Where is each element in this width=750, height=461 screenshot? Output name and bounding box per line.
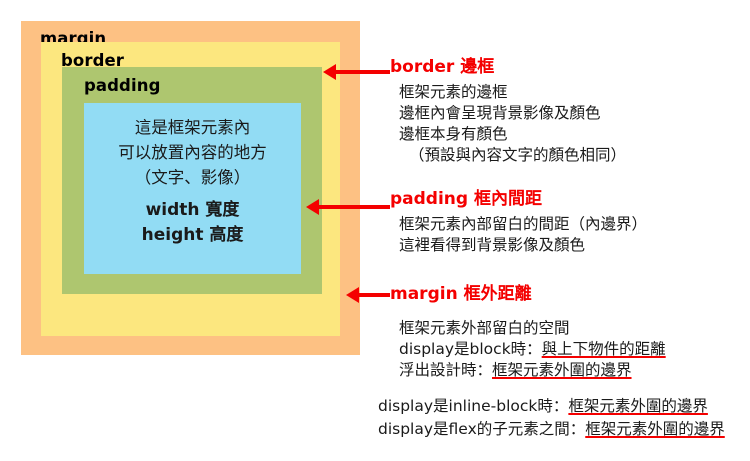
border-annotation-note: （預設與內容文字的顏色相同）	[390, 145, 750, 166]
margin-float-value: 框架元素外圍的邊界	[492, 361, 632, 379]
content-width-label: width 寬度	[146, 198, 240, 223]
content-height-label: height 高度	[142, 223, 244, 248]
margin-float-prefix: 浮出設計時：	[399, 361, 492, 379]
padding-annotation-heading: padding 框內間距	[390, 188, 750, 210]
border-annotation-line: 邊框本身有顏色	[390, 124, 750, 145]
margin-inline-block-value: 框架元素外圍的邊界	[568, 397, 708, 415]
box-model-diagram: margin border padding 這是框架元素內 可以放置內容的地方 …	[21, 21, 360, 355]
border-annotation-line: 框架元素的邊框	[390, 82, 750, 103]
padding-annotation-section: padding 框內間距 框架元素內部留白的間距（內邊界） 這裡看得到背景影像及…	[390, 188, 750, 256]
margin-callout-arrow-icon	[357, 293, 390, 297]
border-annotation-section: border 邊框 框架元素的邊框 邊框內會呈現背景影像及顏色 邊框本身有顏色 …	[390, 56, 750, 166]
margin-extra-annotations: display是inline-block時：框架元素外圍的邊界 display是…	[378, 395, 750, 441]
annotations-column: border 邊框 框架元素的邊框 邊框內會呈現背景影像及顏色 邊框本身有顏色 …	[390, 0, 750, 461]
content-text-line: （文字、影像）	[135, 165, 251, 190]
margin-annotation-display-block: display是block時：與上下物件的距離	[390, 339, 750, 360]
margin-box: margin border padding 這是框架元素內 可以放置內容的地方 …	[21, 21, 360, 355]
margin-annotation-line: 框架元素外部留白的空間	[390, 309, 750, 339]
margin-flex-child-value: 框架元素外圍的邊界	[585, 420, 725, 438]
margin-annotation-heading: margin 框外距離	[390, 283, 750, 305]
content-box: 這是框架元素內 可以放置內容的地方 （文字、影像） width 寬度 heigh…	[84, 103, 301, 274]
border-callout-arrow-icon	[334, 70, 390, 74]
margin-display-block-prefix: display是block時：	[399, 340, 542, 358]
padding-annotation-line: 框架元素內部留白的間距（內邊界）	[390, 214, 750, 235]
margin-annotation-flex-child: display是flex的子元素之間：框架元素外圍的邊界	[378, 418, 750, 441]
content-text-line: 可以放置內容的地方	[118, 140, 267, 165]
border-annotation-heading: border 邊框	[390, 56, 750, 78]
margin-annotation-float: 浮出設計時：框架元素外圍的邊界	[390, 360, 750, 381]
border-annotation-line: 邊框內會呈現背景影像及顏色	[390, 103, 750, 124]
margin-display-block-value: 與上下物件的距離	[542, 340, 666, 358]
padding-callout-arrow-icon	[317, 205, 390, 209]
border-box: border padding 這是框架元素內 可以放置內容的地方 （文字、影像）…	[41, 42, 340, 336]
margin-flex-child-prefix: display是flex的子元素之間：	[378, 420, 585, 438]
padding-box: padding 這是框架元素內 可以放置內容的地方 （文字、影像） width …	[62, 67, 322, 294]
margin-annotation-section: margin 框外距離 框架元素外部留白的空間 display是block時：與…	[390, 283, 750, 381]
content-text-line: 這是框架元素內	[135, 115, 251, 140]
margin-inline-block-prefix: display是inline-block時：	[378, 397, 568, 415]
padding-annotation-line: 這裡看得到背景影像及顏色	[390, 235, 750, 256]
padding-box-label: padding	[84, 76, 160, 95]
margin-annotation-inline-block: display是inline-block時：框架元素外圍的邊界	[378, 395, 750, 418]
